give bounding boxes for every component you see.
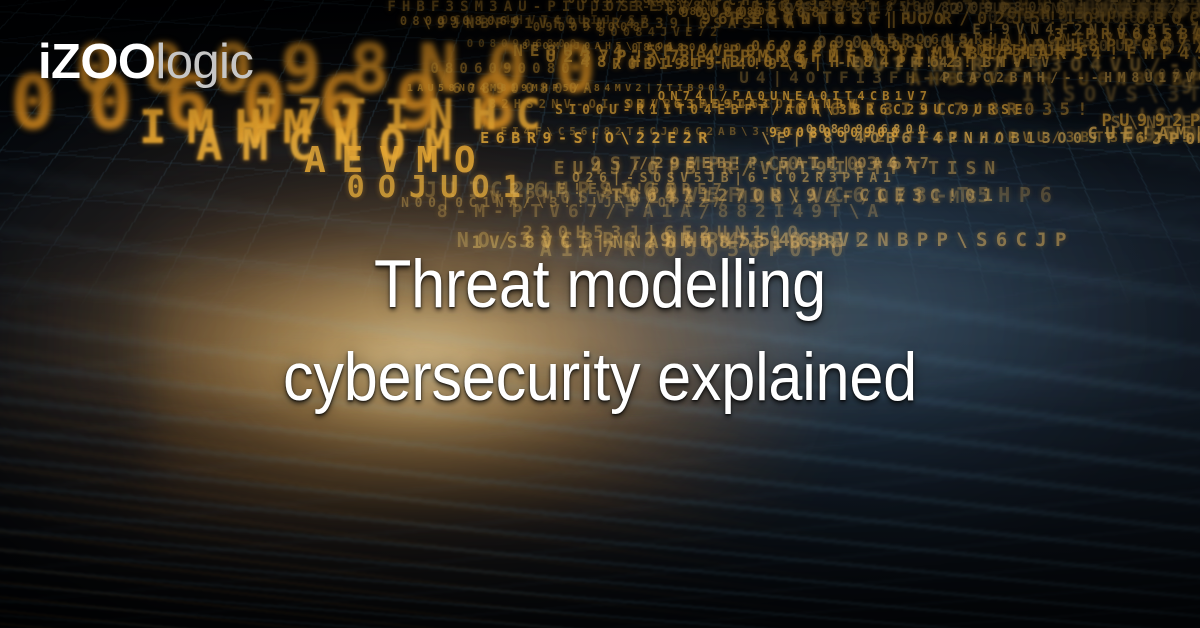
logo-word-logic: logic <box>155 35 253 89</box>
hero-banner: 8 9 6 0 6 0 00 0 N 8 9 0 8 0V M H M IM O… <box>0 0 1200 628</box>
headline-line-1: Threat modelling <box>96 238 1104 331</box>
logo-mark-izoo: iZOO <box>38 35 155 89</box>
headline-block: Threat modelling cybersecurity explained <box>0 238 1200 424</box>
headline-line-2: cybersecurity explained <box>96 331 1104 424</box>
izoologic-logo[interactable]: iZOOlogic <box>38 38 253 87</box>
